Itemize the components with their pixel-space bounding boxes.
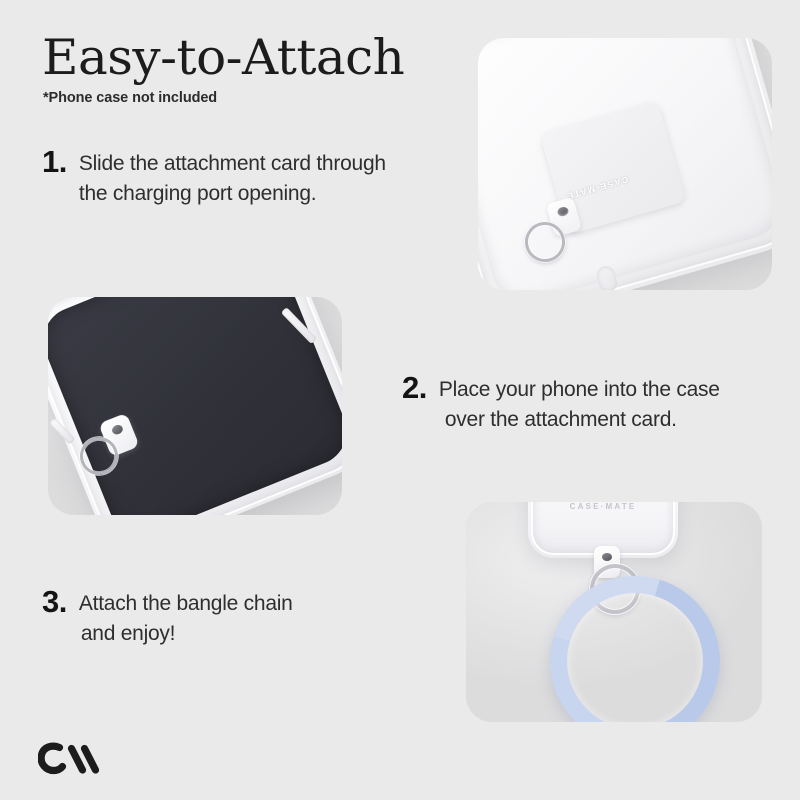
step-1-text: Slide the attachment card through the ch… [67,146,386,209]
step-2-number: 2. [402,372,427,404]
step-3: 3. Attach the bangle chain and enjoy! [42,586,422,649]
panel-phone-seated-in-case [48,297,342,515]
step-2-text: Place your phone into the case over the … [427,372,720,435]
step-3-text: Attach the bangle chain and enjoy! [67,586,293,649]
step-3-number: 3. [42,586,67,618]
step-1-number: 1. [42,146,67,178]
step-3-line-2: and enjoy! [79,619,293,649]
case-logo-text: CASE·MATE [528,502,678,511]
page-title: Easy-to-Attach [42,28,404,88]
step-2: 2. Place your phone into the case over t… [402,372,792,435]
infographic-canvas: Easy-to-Attach *Phone case not included … [0,0,800,800]
case-mate-logo [38,740,104,778]
step-2-line-1: Place your phone into the case [439,375,720,405]
panel-bangle-attached-to-case: CASE·MATE [466,502,762,722]
step-1: 1. Slide the attachment card through the… [42,146,472,209]
page-subtitle: *Phone case not included [43,90,217,106]
attachment-card-logo-text: CASE·MATE [565,174,630,201]
panel-clear-case-with-attachment-card: CASE·MATE [478,38,772,290]
step-3-line-1: Attach the bangle chain [79,589,293,619]
step-2-line-2: over the attachment card. [439,405,720,435]
step-1-line-2: the charging port opening. [79,179,386,209]
step-1-line-1: Slide the attachment card through [79,149,386,179]
phone-in-clear-case [48,297,342,515]
